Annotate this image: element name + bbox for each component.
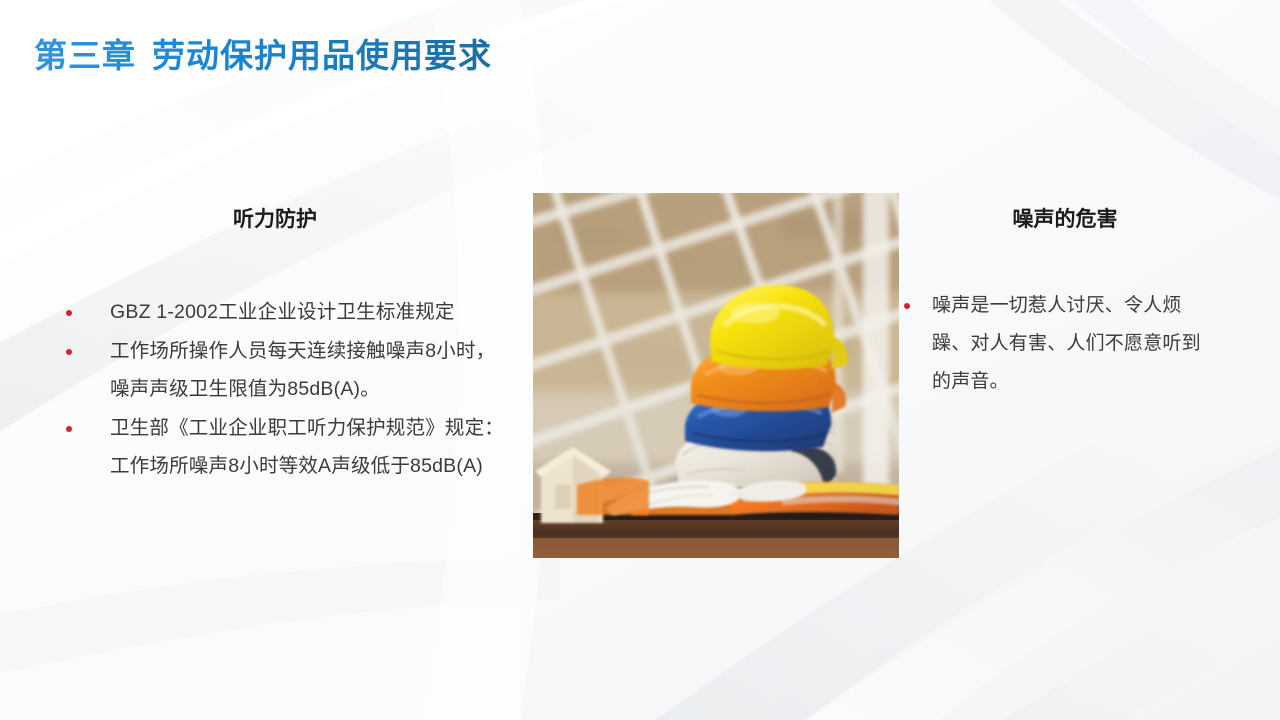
list-item: 工作场所操作人员每天连续接触噪声8小时，噪声声级卫生限值为85dB(A)。 [40,332,510,409]
left-content-column: 听力防护 GBZ 1-2002工业企业设计卫生标准规定 工作场所操作人员每天连续… [40,205,510,486]
right-bullet-list: 噪声是一切惹人讨厌、令人烦躁、对人有害、人们不愿意听到的声音。 [898,287,1218,401]
right-column-heading: 噪声的危害 [912,205,1218,235]
left-bullet-list: GBZ 1-2002工业企业设计卫生标准规定 工作场所操作人员每天连续接触噪声8… [40,293,510,486]
slide-title-bar: 第三章劳动保护用品使用要求 [0,30,1280,86]
list-item-text: 工作场所操作人员每天连续接触噪声8小时，噪声声级卫生限值为85dB(A)。 [110,340,495,401]
list-item: GBZ 1-2002工业企业设计卫生标准规定 [40,293,510,332]
list-item-text: 卫生部《工业企业职工听力保护规范》规定：工作场所噪声8小时等效A声级低于85dB… [110,417,504,478]
chapter-label: 第三章 [34,37,152,74]
list-item: 噪声是一切惹人讨厌、令人烦躁、对人有害、人们不愿意听到的声音。 [898,287,1218,401]
list-item-text: 噪声是一切惹人讨厌、令人烦躁、对人有害、人们不愿意听到的声音。 [932,295,1201,392]
list-item: 卫生部《工业企业职工听力保护规范》规定：工作场所噪声8小时等效A声级低于85dB… [40,409,510,486]
title-heading-text: 劳动保护用品使用要求 [152,37,492,74]
bullet-dot-icon [66,426,72,432]
bullet-dot-icon [66,310,72,316]
right-content-column: 噪声的危害 噪声是一切惹人讨厌、令人烦躁、对人有害、人们不愿意听到的声音。 [898,205,1218,401]
slide: 第三章劳动保护用品使用要求 听力防护 GBZ 1-2002工业企业设计卫生标准规… [0,0,1280,720]
bullet-dot-icon [66,349,72,355]
list-item-text: GBZ 1-2002工业企业设计卫生标准规定 [110,301,455,323]
bullet-dot-icon [904,303,910,309]
stacked-safety-helmets-photo [533,193,899,558]
page-title: 第三章劳动保护用品使用要求 [34,30,492,82]
left-column-heading: 听力防护 [40,205,510,235]
